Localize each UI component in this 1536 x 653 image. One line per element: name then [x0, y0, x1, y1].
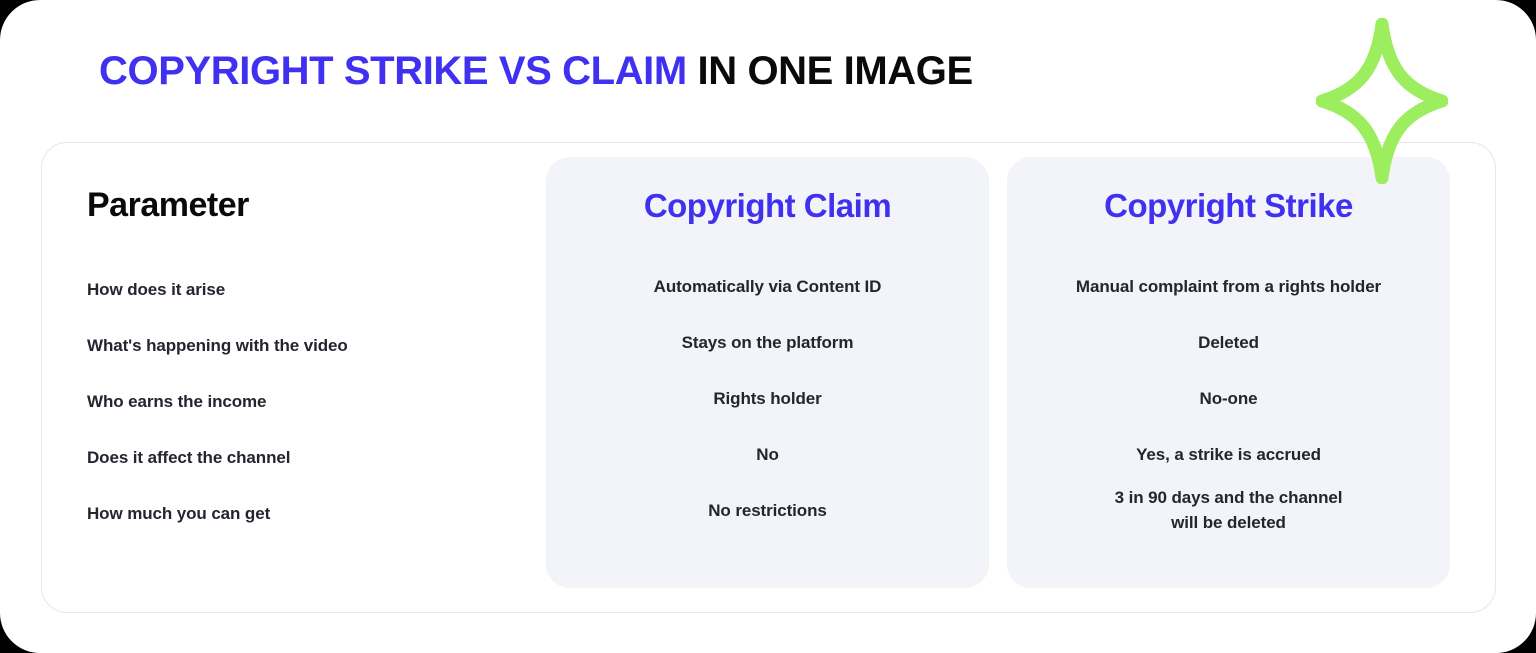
- copyright-strike-panel: Copyright Strike Manual complaint from a…: [1007, 157, 1450, 588]
- copyright-claim-panel: Copyright Claim Automatically via Conten…: [546, 157, 989, 588]
- page-title-plain: IN ONE IMAGE: [687, 49, 973, 93]
- copyright-strike-value: No-one: [1025, 371, 1432, 427]
- copyright-claim-value: No: [564, 427, 971, 483]
- copyright-claim-value: Automatically via Content ID: [564, 259, 971, 315]
- page-title: COPYRIGHT STRIKE VS CLAIM IN ONE IMAGE: [99, 48, 973, 94]
- copyright-claim-value: No restrictions: [564, 483, 971, 539]
- parameter-row-list: How does it arise What's happening with …: [87, 262, 546, 542]
- copyright-claim-value: Rights holder: [564, 371, 971, 427]
- parameter-row: How does it arise: [87, 262, 546, 318]
- copyright-strike-heading: Copyright Strike: [1025, 187, 1432, 225]
- copyright-claim-value-list: Automatically via Content ID Stays on th…: [564, 259, 971, 539]
- comparison-card: Parameter How does it arise What's happe…: [41, 142, 1496, 613]
- page-root: COPYRIGHT STRIKE VS CLAIM IN ONE IMAGE P…: [0, 0, 1536, 653]
- parameter-row: How much you can get: [87, 486, 546, 542]
- copyright-strike-value: 3 in 90 days and the channel will be del…: [1025, 483, 1432, 539]
- value-panels: Copyright Claim Automatically via Conten…: [546, 143, 1450, 588]
- copyright-strike-value: Yes, a strike is accrued: [1025, 427, 1432, 483]
- copyright-strike-value-list: Manual complaint from a rights holder De…: [1025, 259, 1432, 539]
- parameter-column: Parameter How does it arise What's happe…: [42, 143, 546, 542]
- copyright-strike-value: Manual complaint from a rights holder: [1025, 259, 1432, 315]
- parameter-row: Does it affect the channel: [87, 430, 546, 486]
- copyright-claim-value: Stays on the platform: [564, 315, 971, 371]
- parameter-row: What's happening with the video: [87, 318, 546, 374]
- parameter-column-heading: Parameter: [87, 187, 546, 224]
- copyright-claim-heading: Copyright Claim: [564, 187, 971, 225]
- page-title-accent: COPYRIGHT STRIKE VS CLAIM: [99, 49, 687, 93]
- parameter-row: Who earns the income: [87, 374, 546, 430]
- copyright-strike-value: Deleted: [1025, 315, 1432, 371]
